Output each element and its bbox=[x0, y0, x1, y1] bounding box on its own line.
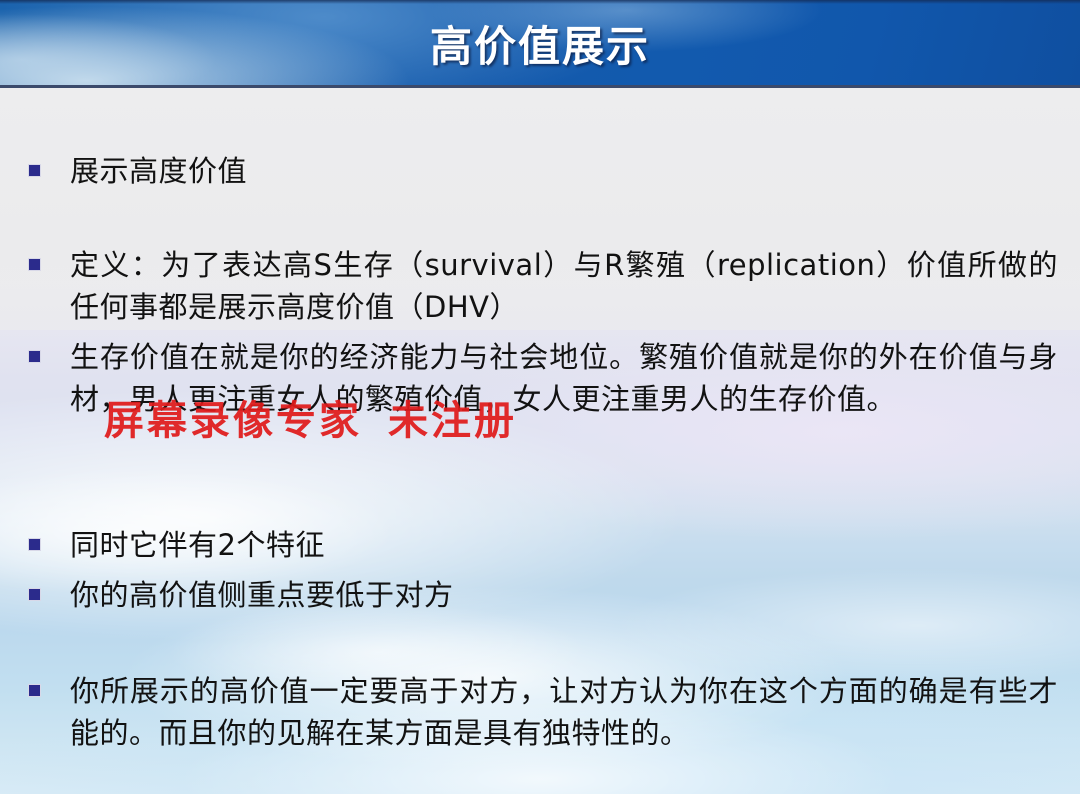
bullet-text-1: 展示高度价值 bbox=[70, 150, 1058, 192]
list-item: 定义：为了表达高S生存（survival）与R繁殖（replication）价值… bbox=[28, 244, 1058, 328]
slide-title-banner: 高价值展示 bbox=[0, 0, 1080, 88]
list-item: 生存价值在就是你的经济能力与社会地位。繁殖价值就是你的外在价值与身材，男人更注重… bbox=[28, 336, 1058, 420]
square-bullet-icon bbox=[28, 258, 41, 271]
bullet-text-5: 你的高价值侧重点要低于对方 bbox=[70, 574, 1058, 616]
list-item: 展示高度价值 bbox=[28, 150, 1058, 192]
page-title: 高价值展示 bbox=[0, 13, 1080, 74]
square-bullet-icon bbox=[28, 588, 41, 601]
presentation-slide: 高价值展示 展示高度价值 定义：为了表达高S生存（survival）与R繁殖（r… bbox=[0, 0, 1080, 794]
list-item: 你的高价值侧重点要低于对方 bbox=[28, 574, 1058, 616]
slide-body: 展示高度价值 定义：为了表达高S生存（survival）与R繁殖（replica… bbox=[0, 88, 1080, 794]
square-bullet-icon bbox=[28, 684, 41, 697]
bullet-text-2: 定义：为了表达高S生存（survival）与R繁殖（replication）价值… bbox=[70, 244, 1058, 328]
square-bullet-icon bbox=[28, 538, 41, 551]
square-bullet-icon bbox=[28, 350, 41, 363]
list-item: 同时它伴有2个特征 bbox=[28, 524, 1058, 566]
list-item: 你所展示的高价值一定要高于对方，让对方认为你在这个方面的确是有些才能的。而且你的… bbox=[28, 670, 1058, 754]
bullet-text-4: 同时它伴有2个特征 bbox=[70, 524, 1058, 566]
bullet-text-6: 你所展示的高价值一定要高于对方，让对方认为你在这个方面的确是有些才能的。而且你的… bbox=[70, 670, 1058, 754]
square-bullet-icon bbox=[28, 164, 41, 177]
bullet-text-3: 生存价值在就是你的经济能力与社会地位。繁殖价值就是你的外在价值与身材，男人更注重… bbox=[70, 336, 1058, 420]
